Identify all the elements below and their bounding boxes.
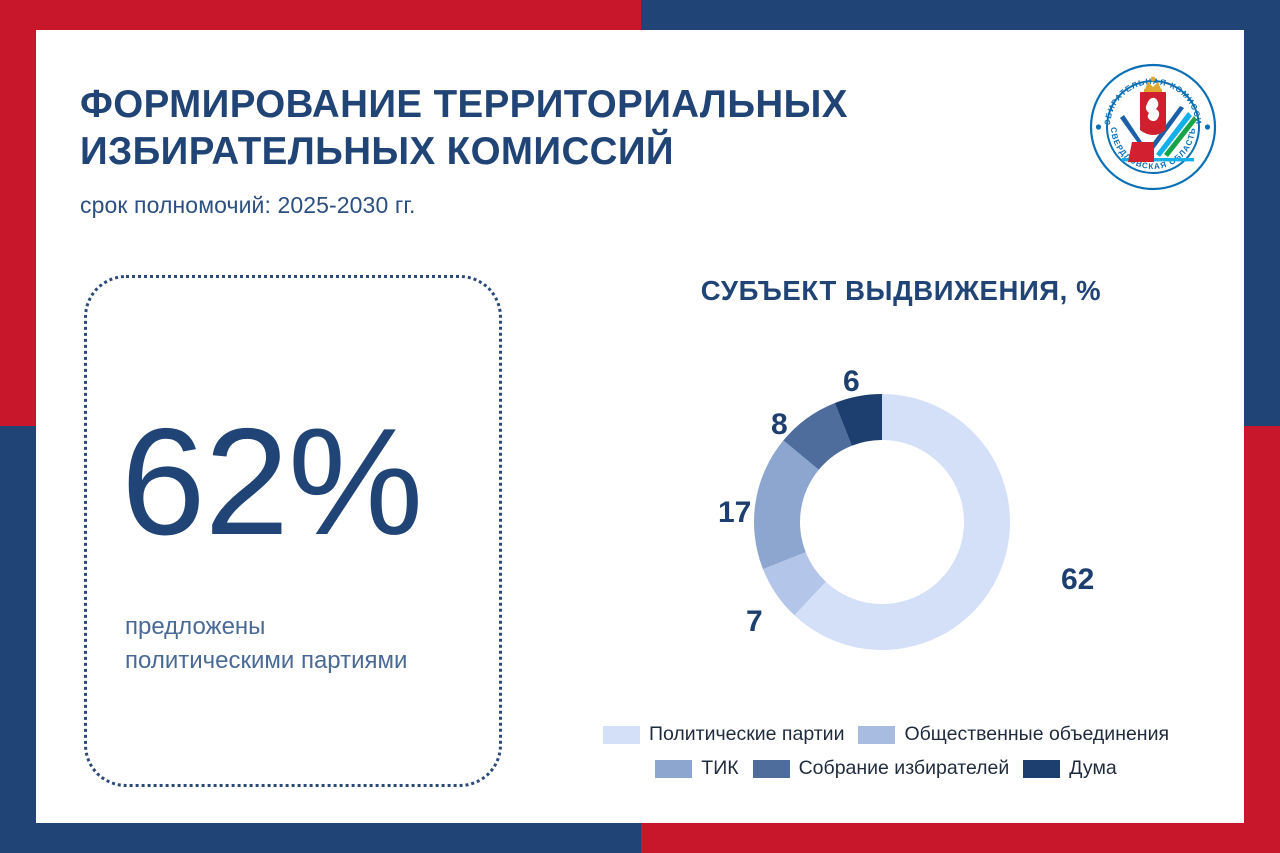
legend-label: ТИК: [701, 757, 738, 780]
legend-item[interactable]: Политические партии: [603, 723, 845, 746]
stat-caption: предложены политическими партиями: [125, 610, 485, 678]
stat-card: 62% предложены политическими партиями: [84, 275, 502, 787]
donut-data-label: 17: [718, 496, 751, 530]
donut-data-label: 7: [746, 605, 763, 639]
content-card: ФОРМИРОВАНИЕ ТЕРРИТОРИАЛЬНЫХ ИЗБИРАТЕЛЬН…: [36, 30, 1244, 823]
legend-item[interactable]: Собрание избирателей: [753, 757, 1010, 780]
page-subtitle: срок полномочий: 2025-2030 гг.: [80, 192, 1040, 219]
stat-value: 62%: [121, 406, 422, 558]
legend-label: Дума: [1069, 757, 1116, 780]
legend-label: Политические партии: [649, 723, 845, 746]
legend-label: Общественные объединения: [904, 723, 1169, 746]
chart-panel: СУБЪЕКТ ВЫДВИЖЕНИЯ, % 6271786 Политическ…: [536, 275, 1236, 787]
donut-data-label: 62: [1061, 563, 1094, 597]
chart-title: СУБЪЕКТ ВЫДВИЖЕНИЯ, %: [536, 275, 1236, 307]
page-title: ФОРМИРОВАНИЕ ТЕРРИТОРИАЛЬНЫХ ИЗБИРАТЕЛЬН…: [80, 82, 1040, 176]
legend-swatch: [858, 726, 895, 744]
stat-caption-line-1: предложены: [125, 610, 485, 644]
chart-legend: Политические партииОбщественные объедине…: [536, 723, 1236, 791]
stat-caption-line-2: политическими партиями: [125, 644, 485, 678]
legend-swatch: [603, 726, 640, 744]
legend-item[interactable]: Дума: [1023, 757, 1116, 780]
legend-swatch: [753, 760, 790, 778]
legend-item[interactable]: Общественные объединения: [858, 723, 1169, 746]
legend-swatch: [1023, 760, 1060, 778]
header: ФОРМИРОВАНИЕ ТЕРРИТОРИАЛЬНЫХ ИЗБИРАТЕЛЬН…: [80, 82, 1040, 219]
legend-row: ТИКСобрание избирателейДума: [536, 757, 1236, 780]
legend-row: Политические партииОбщественные объедине…: [536, 723, 1236, 746]
legend-label: Собрание избирателей: [799, 757, 1010, 780]
donut-data-label: 8: [771, 408, 788, 442]
page-title-line-1: ФОРМИРОВАНИЕ ТЕРРИТОРИАЛЬНЫХ: [80, 82, 1040, 129]
donut-data-label: 6: [843, 365, 860, 399]
page-title-line-2: ИЗБИРАТЕЛЬНЫХ КОМИССИЙ: [80, 129, 1040, 176]
legend-item[interactable]: ТИК: [655, 757, 738, 780]
infographic-poster: ФОРМИРОВАНИЕ ТЕРРИТОРИАЛЬНЫХ ИЗБИРАТЕЛЬН…: [0, 0, 1280, 853]
sverdlovsk-election-commission-emblem-icon: ИЗБИРАТЕЛЬНАЯ КОМИССИЯ СВЕРДЛОВСКАЯ ОБЛА…: [1088, 62, 1218, 192]
legend-swatch: [655, 760, 692, 778]
